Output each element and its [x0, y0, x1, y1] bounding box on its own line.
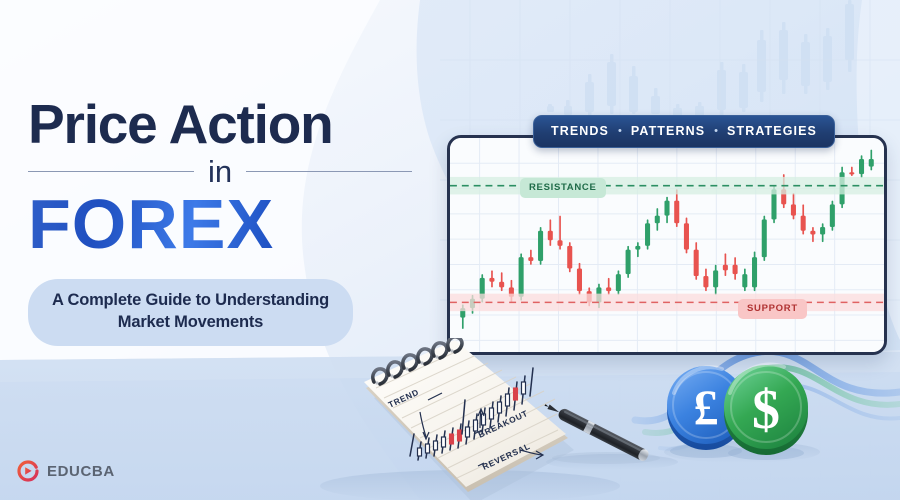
educba-logo[interactable]: EDUCBA: [16, 459, 115, 483]
pound-symbol: £: [694, 379, 719, 435]
educba-swirl-icon: [16, 459, 40, 483]
badge-item-strategies: STRATEGIES: [727, 124, 817, 138]
title-connector-row: in: [28, 156, 420, 187]
candlestick-chart-panel: RESISTANCE SUPPORT: [447, 135, 887, 355]
hero-text-block: Price Action in FOREX A Complete Guide t…: [28, 96, 420, 346]
notebook-sketch: TREND BREAKOUT REVERSAL: [352, 338, 576, 500]
divider-left: [28, 171, 194, 172]
page-title-forex: FOREX: [28, 189, 420, 259]
page-title: Price Action: [28, 96, 420, 152]
subtitle-line-1: A Complete Guide to Understanding: [52, 290, 329, 311]
resistance-label: RESISTANCE: [520, 178, 606, 198]
dollar-symbol: $: [752, 379, 780, 441]
subtitle-line-2: Market Movements: [52, 312, 329, 333]
dollar-coin: $: [724, 365, 808, 455]
support-resistance-lines: [450, 138, 884, 352]
subtitle-pill: A Complete Guide to Understanding Market…: [28, 279, 353, 346]
divider-right: [246, 171, 412, 172]
currency-coins: £ $: [660, 355, 820, 460]
topics-badge: TRENDS • PATTERNS • STRATEGIES: [533, 115, 835, 148]
title-connector: in: [206, 156, 234, 187]
badge-item-patterns: PATTERNS: [631, 124, 705, 138]
educba-wordmark: EDUCBA: [47, 463, 115, 480]
badge-separator-1: •: [618, 126, 622, 137]
badge-item-trends: TRENDS: [551, 124, 609, 138]
badge-separator-2: •: [714, 126, 718, 137]
poster-canvas: Price Action in FOREX A Complete Guide t…: [0, 0, 900, 500]
support-label: SUPPORT: [738, 299, 807, 319]
